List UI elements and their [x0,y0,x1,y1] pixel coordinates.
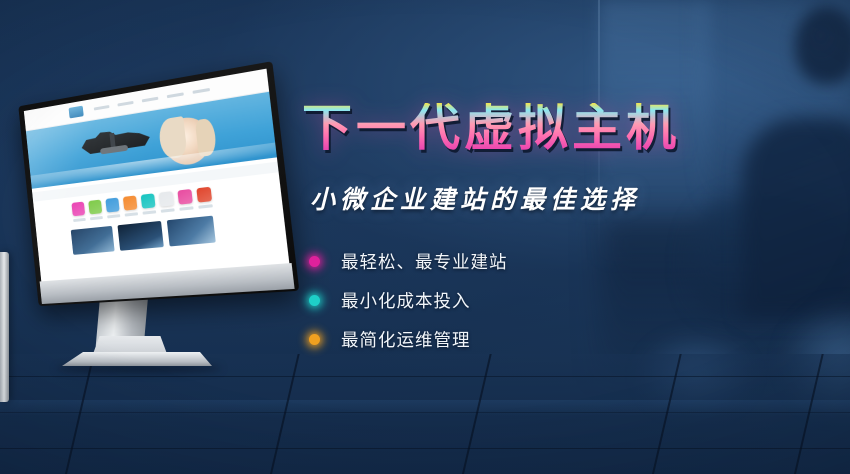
bullet-dot [309,295,320,306]
bullet-dot [309,334,320,345]
vignette-overlay [0,0,850,474]
bullet-dot [309,256,320,267]
hosting-promo-banner: 下一代虚拟主机 小微企业建站的最佳选择 最轻松、最专业建站最小化成本投入最简化运… [0,0,850,474]
